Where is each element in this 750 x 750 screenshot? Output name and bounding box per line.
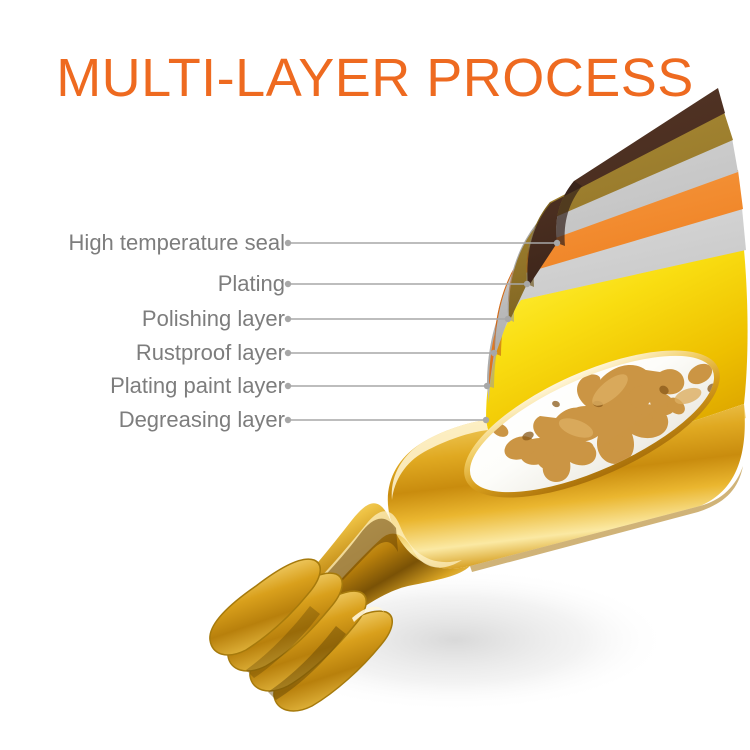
callout-label-plating-paint-layer: Plating paint layer <box>110 373 285 399</box>
callout-label-plating: Plating <box>218 271 285 297</box>
callout-label-polishing-layer: Polishing layer <box>142 306 285 332</box>
callout-label-rustproof-layer: Rustproof layer <box>136 340 285 366</box>
callout-label-degreasing-layer: Degreasing layer <box>119 407 285 433</box>
product-infographic: MULTI-LAYER PROCESS <box>0 0 750 750</box>
callout-label-high-temperature-seal: High temperature seal <box>69 230 285 256</box>
